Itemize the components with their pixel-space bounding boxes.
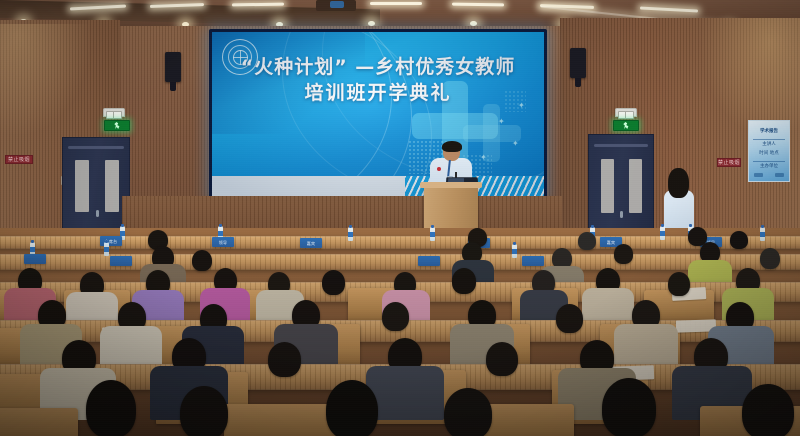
attendee-body <box>100 326 162 368</box>
attendee-head <box>268 342 301 377</box>
attendee-body <box>614 324 678 368</box>
name-placard <box>110 256 132 266</box>
water-bottle <box>104 242 109 256</box>
emergency-lamp <box>615 108 637 117</box>
name-placard <box>418 256 440 266</box>
auditorium-scene: ✦ ✦ ✦ ✦ “火种计划” —乡村优秀女教师 培训班开学典礼 禁止吸烟 禁止吸… <box>0 0 800 436</box>
audience-floor: 主席台 领导 嘉宾 领导 嘉宾 领导 <box>0 228 800 436</box>
screen-vignette <box>212 32 544 196</box>
attendee-head <box>614 244 633 264</box>
poster-line: 主办单位 <box>749 164 789 169</box>
wall-speaker <box>570 48 586 78</box>
attendee-head <box>668 272 690 296</box>
led-screen-frame: ✦ ✦ ✦ ✦ “火种计划” —乡村优秀女教师 培训班开学典礼 <box>209 29 547 199</box>
led-screen: ✦ ✦ ✦ ✦ “火种计划” —乡村优秀女教师 培训班开学典礼 <box>212 32 544 196</box>
poster-title: 学术报告 <box>749 129 789 134</box>
attendee-head <box>602 378 656 436</box>
seat-back <box>0 408 78 436</box>
attendee-head <box>322 270 345 295</box>
wall-poster[interactable]: 学术报告 主讲人 时间 地点 主办单位 <box>748 120 790 182</box>
attendee-head <box>180 386 228 436</box>
attendee-head <box>86 380 136 436</box>
water-bottle <box>760 227 765 241</box>
name-placard: 嘉宾 <box>300 238 322 248</box>
wall-speaker <box>165 52 181 82</box>
attendee-head <box>326 380 378 436</box>
poster-line: 时间 地点 <box>749 151 789 156</box>
water-bottle <box>512 244 517 258</box>
ceiling-light-strip <box>370 2 422 5</box>
right-wall-notice: 禁止吸烟 <box>717 158 741 167</box>
attendee-body <box>582 288 634 324</box>
water-bottle <box>348 227 353 241</box>
attendee-head <box>382 302 409 331</box>
left-wall-notice: 禁止吸烟 <box>5 155 33 164</box>
seat-back <box>224 404 336 436</box>
attendee-head <box>760 248 780 269</box>
attendee-head <box>452 268 476 294</box>
name-placard <box>522 256 544 266</box>
attendee-head <box>742 384 794 436</box>
name-placard <box>24 254 46 264</box>
attendee-head <box>444 388 492 436</box>
exit-sign[interactable] <box>104 120 130 131</box>
name-placard: 领导 <box>212 237 234 247</box>
exit-sign[interactable] <box>613 120 639 131</box>
wall-light-glow <box>0 24 90 134</box>
attendee-head <box>578 232 596 250</box>
emergency-lamp <box>103 108 125 117</box>
water-bottle <box>430 227 435 241</box>
water-bottle <box>660 226 665 240</box>
attendee-head <box>192 250 212 271</box>
attendee-head <box>556 304 583 333</box>
poster-line: 主讲人 <box>749 142 789 147</box>
attendee-head <box>730 231 748 249</box>
attendee-head <box>486 342 518 376</box>
projector-lens <box>330 1 344 8</box>
